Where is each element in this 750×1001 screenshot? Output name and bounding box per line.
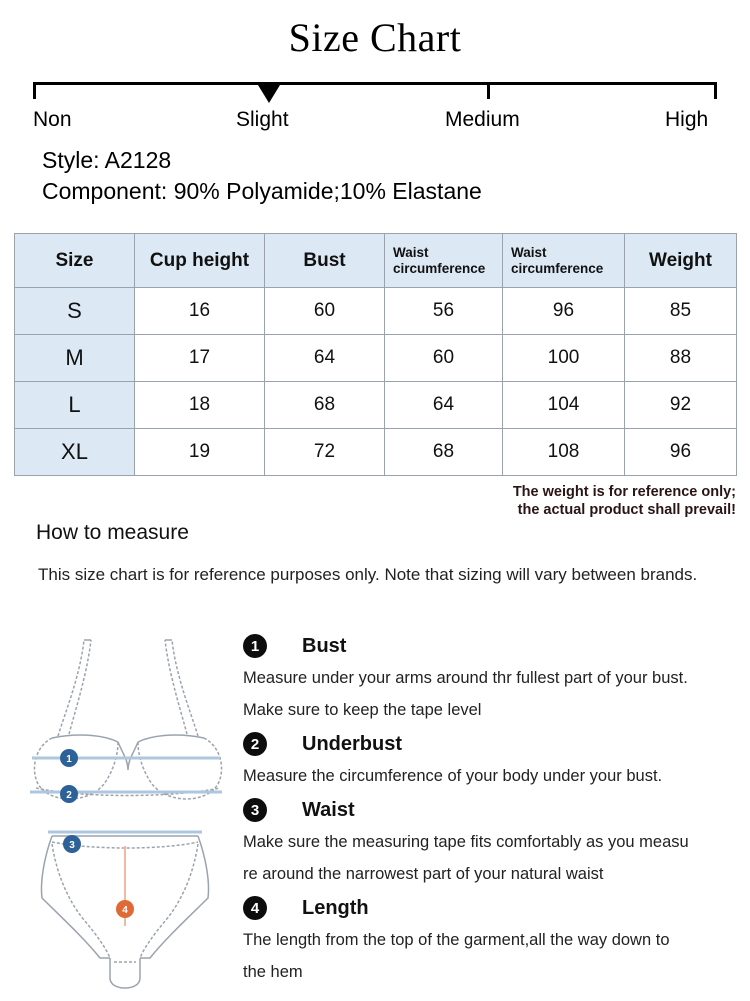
cell-cup-height: 17 — [135, 335, 265, 382]
step-desc-waist-line-2: re around the narrowest part of your nat… — [243, 858, 743, 890]
cell-bust: 72 — [265, 429, 385, 476]
step-desc-length-line-2: the hem — [243, 956, 743, 988]
cell-size: XL — [15, 429, 135, 476]
step-desc-length-line-1: The length from the top of the garment,a… — [243, 924, 743, 956]
weight-disclaimer: The weight is for reference only; the ac… — [0, 483, 736, 519]
step-title-bust: Bust — [302, 635, 346, 658]
bra-marker-1-label: 1 — [66, 754, 72, 765]
cell-cup-height: 19 — [135, 429, 265, 476]
step-number-badge-3: 3 — [243, 798, 267, 822]
bra-illustration: 1 2 — [22, 618, 237, 808]
measurement-step-underbust: 2 Underbust Measure the circumference of… — [243, 728, 743, 792]
size-table-container: Size Cup height Bust Waist circumference… — [14, 233, 736, 476]
table-header-waist-circumference-2: Waist circumference — [503, 234, 625, 288]
weight-disclaimer-line-2: the actual product shall prevail! — [0, 501, 736, 519]
bra-diagram-svg: 1 2 — [22, 618, 237, 808]
cell-weight: 96 — [625, 429, 737, 476]
step-desc-bust-line-2: Make sure to keep the tape level — [243, 694, 743, 726]
table-header-waist-circumference-1: Waist circumference — [385, 234, 503, 288]
cell-waist-2: 104 — [503, 382, 625, 429]
cell-cup-height: 16 — [135, 288, 265, 335]
product-meta: Style: A2128 Component: 90% Polyamide;10… — [42, 145, 732, 207]
cell-waist-1: 60 — [385, 335, 503, 382]
step-title-waist: Waist — [302, 799, 355, 822]
weight-disclaimer-line-1: The weight is for reference only; — [0, 483, 736, 501]
how-to-measure-heading: How to measure — [36, 521, 189, 545]
table-row: M 17 64 60 100 88 — [15, 335, 737, 382]
cell-size: L — [15, 382, 135, 429]
step-header: 3 Waist — [243, 794, 743, 826]
table-header-cup-height: Cup height — [135, 234, 265, 288]
step-number-badge-2: 2 — [243, 732, 267, 756]
step-number-badge-1: 1 — [243, 634, 267, 658]
cell-weight: 92 — [625, 382, 737, 429]
cell-size: M — [15, 335, 135, 382]
brief-marker-4-label: 4 — [122, 905, 128, 916]
table-row: S 16 60 56 96 85 — [15, 288, 737, 335]
step-header: 2 Underbust — [243, 728, 743, 760]
scale-label-slight: Slight — [236, 108, 289, 132]
cell-waist-1: 56 — [385, 288, 503, 335]
table-row: XL 19 72 68 108 96 — [15, 429, 737, 476]
cell-bust: 60 — [265, 288, 385, 335]
style-line: Style: A2128 — [42, 145, 732, 176]
table-header-row: Size Cup height Bust Waist circumference… — [15, 234, 737, 288]
table-row: L 18 68 64 104 92 — [15, 382, 737, 429]
cell-waist-1: 68 — [385, 429, 503, 476]
bra-outline — [34, 640, 221, 799]
step-title-length: Length — [302, 897, 369, 920]
step-header: 4 Length — [243, 892, 743, 924]
how-to-measure-subtext: This size chart is for reference purpose… — [38, 565, 697, 585]
step-title-underbust: Underbust — [302, 733, 402, 756]
table-header-weight: Weight — [625, 234, 737, 288]
table-header-bust: Bust — [265, 234, 385, 288]
step-desc-waist-line-1: Make sure the measuring tape fits comfor… — [243, 826, 743, 858]
component-line: Component: 90% Polyamide;10% Elastane — [42, 176, 732, 207]
brief-illustration: 3 4 — [22, 806, 237, 996]
step-number-badge-4: 4 — [243, 896, 267, 920]
page-title: Size Chart — [0, 14, 750, 61]
cell-weight: 85 — [625, 288, 737, 335]
scale-tick-non — [33, 82, 36, 99]
cell-bust: 64 — [265, 335, 385, 382]
stretch-scale: Non Slight Medium High — [33, 82, 717, 142]
measurement-steps: 1 Bust Measure under your arms around th… — [243, 630, 743, 990]
measurement-step-waist: 3 Waist Make sure the measuring tape fit… — [243, 794, 743, 890]
bra-marker-2-label: 2 — [66, 790, 72, 801]
measurement-step-length: 4 Length The length from the top of the … — [243, 892, 743, 988]
scale-tick-high — [714, 82, 717, 99]
measurement-step-bust: 1 Bust Measure under your arms around th… — [243, 630, 743, 726]
brief-diagram-svg: 3 4 — [22, 806, 237, 996]
scale-line — [33, 82, 717, 85]
table-header-size: Size — [15, 234, 135, 288]
step-desc-bust-line-1: Measure under your arms around thr fulle… — [243, 662, 743, 694]
brief-marker-3-label: 3 — [69, 840, 75, 851]
scale-label-high: High — [665, 108, 708, 132]
cell-waist-2: 96 — [503, 288, 625, 335]
step-header: 1 Bust — [243, 630, 743, 662]
stretch-level-marker — [258, 85, 280, 103]
cell-bust: 68 — [265, 382, 385, 429]
cell-waist-2: 100 — [503, 335, 625, 382]
scale-label-medium: Medium — [445, 108, 520, 132]
cell-cup-height: 18 — [135, 382, 265, 429]
step-desc-underbust-line-1: Measure the circumference of your body u… — [243, 760, 743, 792]
cell-size: S — [15, 288, 135, 335]
cell-waist-2: 108 — [503, 429, 625, 476]
size-table: Size Cup height Bust Waist circumference… — [14, 233, 737, 476]
scale-label-non: Non — [33, 108, 72, 132]
cell-waist-1: 64 — [385, 382, 503, 429]
scale-tick-medium — [487, 82, 490, 99]
cell-weight: 88 — [625, 335, 737, 382]
